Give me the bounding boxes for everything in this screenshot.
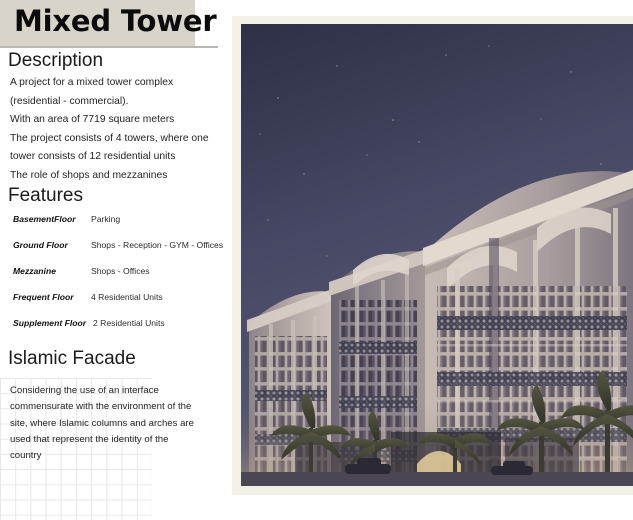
islamic-facade-heading: Islamic Facade bbox=[8, 348, 136, 370]
features-row-label: Supplement Floor bbox=[13, 318, 93, 328]
left-content-column: Description A project for a mixed tower … bbox=[0, 0, 230, 520]
description-line: A project for a mixed tower complex bbox=[10, 74, 225, 93]
features-row: Supplement Floor 2 Residential Units bbox=[13, 318, 228, 344]
islamic-facade-line: commensurate with the environment of the bbox=[10, 399, 210, 415]
description-line: tower consists of 12 residential units bbox=[10, 148, 225, 167]
description-heading: Description bbox=[8, 50, 103, 72]
features-row-value: Parking bbox=[91, 214, 120, 224]
features-row-value: 4 Residential Units bbox=[91, 292, 163, 302]
description-body: A project for a mixed tower complex (res… bbox=[10, 74, 225, 185]
features-row: Frequent Floor 4 Residential Units bbox=[13, 292, 228, 318]
features-table: BasementFloor Parking Ground Floor Shops… bbox=[13, 214, 228, 344]
islamic-facade-line: site, where Islamic columns and arches a… bbox=[10, 416, 210, 432]
features-heading: Features bbox=[8, 185, 83, 207]
description-line: The role of shops and mezzanines bbox=[10, 167, 225, 186]
description-line: With an area of 7719 square meters bbox=[10, 111, 225, 130]
features-row: BasementFloor Parking bbox=[13, 214, 228, 240]
features-row-label: Frequent Floor bbox=[13, 292, 91, 302]
features-row: Mezzanine Shops - Offices bbox=[13, 266, 228, 292]
presentation-slide: Mixed Tower Description A project for a … bbox=[0, 0, 633, 520]
features-row-label: Ground Floor bbox=[13, 240, 91, 250]
islamic-facade-body: Considering the use of an interface comm… bbox=[10, 383, 210, 464]
islamic-facade-line: used that represent the identity of the bbox=[10, 432, 210, 448]
description-line: The project consists of 4 towers, where … bbox=[10, 130, 225, 149]
features-row-value: Shops - Reception - GYM - Offices bbox=[91, 240, 223, 250]
description-line: (residential - commercial). bbox=[10, 93, 225, 112]
image-frame bbox=[232, 16, 633, 495]
islamic-facade-line: Considering the use of an interface bbox=[10, 383, 210, 399]
render-svg bbox=[241, 24, 633, 486]
features-row: Ground Floor Shops - Reception - GYM - O… bbox=[13, 240, 228, 266]
islamic-facade-line: country bbox=[10, 448, 210, 464]
building-render-image bbox=[241, 24, 633, 486]
features-row-label: BasementFloor bbox=[13, 214, 91, 224]
features-row-value: 2 Residential Units bbox=[93, 318, 165, 328]
features-row-label: Mezzanine bbox=[13, 266, 91, 276]
features-row-value: Shops - Offices bbox=[91, 266, 150, 276]
